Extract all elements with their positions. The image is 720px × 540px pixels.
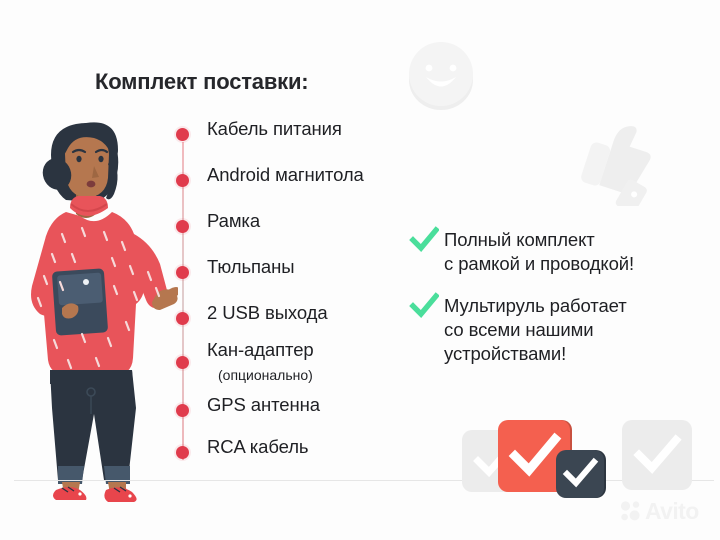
smiley-face-icon: [405, 40, 477, 112]
checkbox-tile-dark: [556, 450, 604, 498]
avito-watermark: Avito: [620, 500, 699, 522]
check-icon: [409, 225, 439, 255]
bullet-dot: [176, 266, 189, 279]
feature-callout: Полный комплект с рамкой и проводкой!: [409, 228, 634, 276]
avito-wordmark: Avito: [645, 500, 699, 522]
check-icon: [409, 291, 439, 321]
delivery-list: Кабель питания Android магнитола Рамка Т…: [176, 128, 416, 458]
list-item-label: GPS антенна: [207, 394, 320, 416]
bullet-dot: [176, 312, 189, 325]
bullet-dot: [176, 356, 189, 369]
list-item-sublabel: (опционально): [218, 367, 313, 383]
bullet-dot: [176, 174, 189, 187]
bullet-dot: [176, 128, 189, 141]
list-item-label: Рамка: [207, 210, 260, 232]
bullet-dot: [176, 446, 189, 459]
list-item-label: Кан-адаптер: [207, 339, 314, 361]
list-item-label: Кабель питания: [207, 118, 342, 140]
bullet-dot: [176, 220, 189, 233]
thumbs-up-icon: [578, 114, 660, 206]
feature-callout: Мультируль работает со всеми нашими устр…: [409, 294, 627, 366]
feature-text: Мультируль работает со всеми нашими устр…: [444, 294, 627, 366]
list-item-label: Android магнитола: [207, 164, 364, 186]
checkbox-tile-grey-right: [622, 420, 692, 490]
list-item-label: 2 USB выхода: [207, 302, 328, 324]
list-item-label: Тюльпаны: [207, 256, 294, 278]
checkbox-tiles-group: [462, 412, 692, 504]
promo-card: Комплект поставки: Кабель питания Androi…: [0, 0, 720, 540]
bullet-dot: [176, 404, 189, 417]
list-item-label: RCA кабель: [207, 436, 308, 458]
feature-text: Полный комплект с рамкой и проводкой!: [444, 228, 634, 276]
page-title: Комплект поставки:: [95, 69, 308, 95]
woman-pointing-illustration: [8, 108, 178, 504]
avito-logo-icon: [620, 500, 642, 522]
